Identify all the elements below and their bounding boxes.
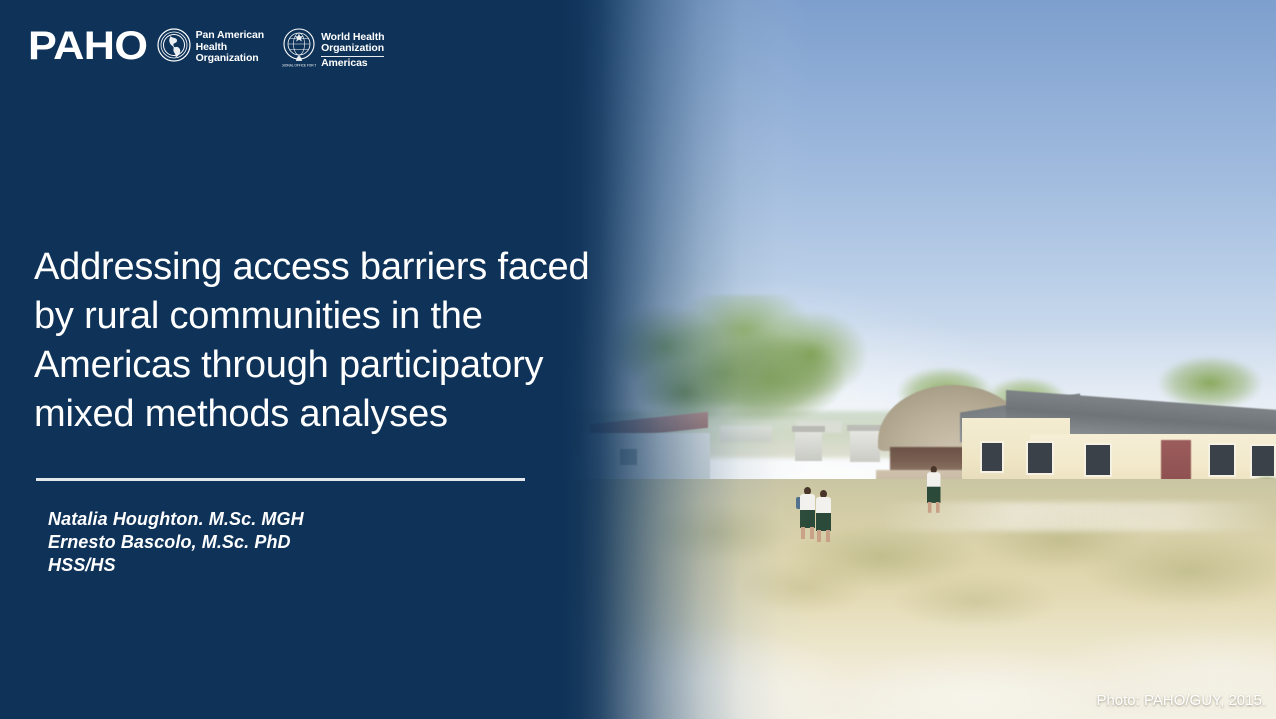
- outbuilding-2: [850, 430, 880, 462]
- school-window-4: [1208, 443, 1236, 477]
- paho-organization-name: Pan American Health Organization: [196, 30, 264, 65]
- title-panel: PAHO Pan American Health Organization: [0, 0, 600, 719]
- title-line-1: Addressing access barriers faced: [34, 243, 600, 292]
- paho-wordmark: PAHO: [28, 26, 147, 66]
- paho-name-line1: Pan American: [196, 29, 264, 41]
- who-organization-name: World Health Organization Americas: [321, 32, 384, 69]
- photo-credit: Photo: PAHO/GUY, 2015.: [1096, 692, 1266, 710]
- paho-name-line3: Organization: [196, 52, 259, 64]
- title-line-4: mixed methods analyses: [34, 390, 600, 439]
- author-department: HSS/HS: [48, 554, 304, 577]
- background-photograph: [560, 0, 1276, 719]
- title-divider-rule: [36, 478, 525, 481]
- title-line-3: Americas through participatory: [34, 341, 600, 390]
- school-window-3: [1084, 443, 1112, 477]
- paho-who-logo-lockup: PAHO Pan American Health Organization: [28, 26, 384, 73]
- school-window-1: [980, 441, 1004, 473]
- author-block: Natalia Houghton. M.Sc. MGH Ernesto Basc…: [48, 508, 304, 577]
- who-seal-caption: REGIONAL OFFICE FOR THE: [282, 64, 316, 68]
- title-line-2: by rural communities in the: [34, 292, 600, 341]
- author-line-2: Ernesto Bascolo, M.Sc. PhD: [48, 531, 304, 554]
- presentation-title-slide: PAHO Pan American Health Organization: [0, 0, 1276, 719]
- left-building-window: [620, 449, 637, 465]
- who-logo-unit: REGIONAL OFFICE FOR THE World Health Org…: [282, 28, 384, 73]
- paho-name-line2: Health: [196, 41, 228, 53]
- school-window-2: [1026, 441, 1054, 475]
- paho-logo-unit: Pan American Health Organization: [157, 28, 264, 67]
- paho-globe-seal-icon: [157, 28, 191, 67]
- distant-house-1: [720, 426, 772, 442]
- slide-title: Addressing access barriers faced by rura…: [34, 243, 600, 439]
- who-name-line2: Organization: [321, 42, 384, 54]
- who-globe-seal-icon: REGIONAL OFFICE FOR THE: [282, 28, 316, 73]
- who-name-line1: World Health: [321, 31, 384, 43]
- who-region-label: Americas: [321, 56, 384, 70]
- author-line-1: Natalia Houghton. M.Sc. MGH: [48, 508, 304, 531]
- outbuilding-1: [795, 431, 822, 461]
